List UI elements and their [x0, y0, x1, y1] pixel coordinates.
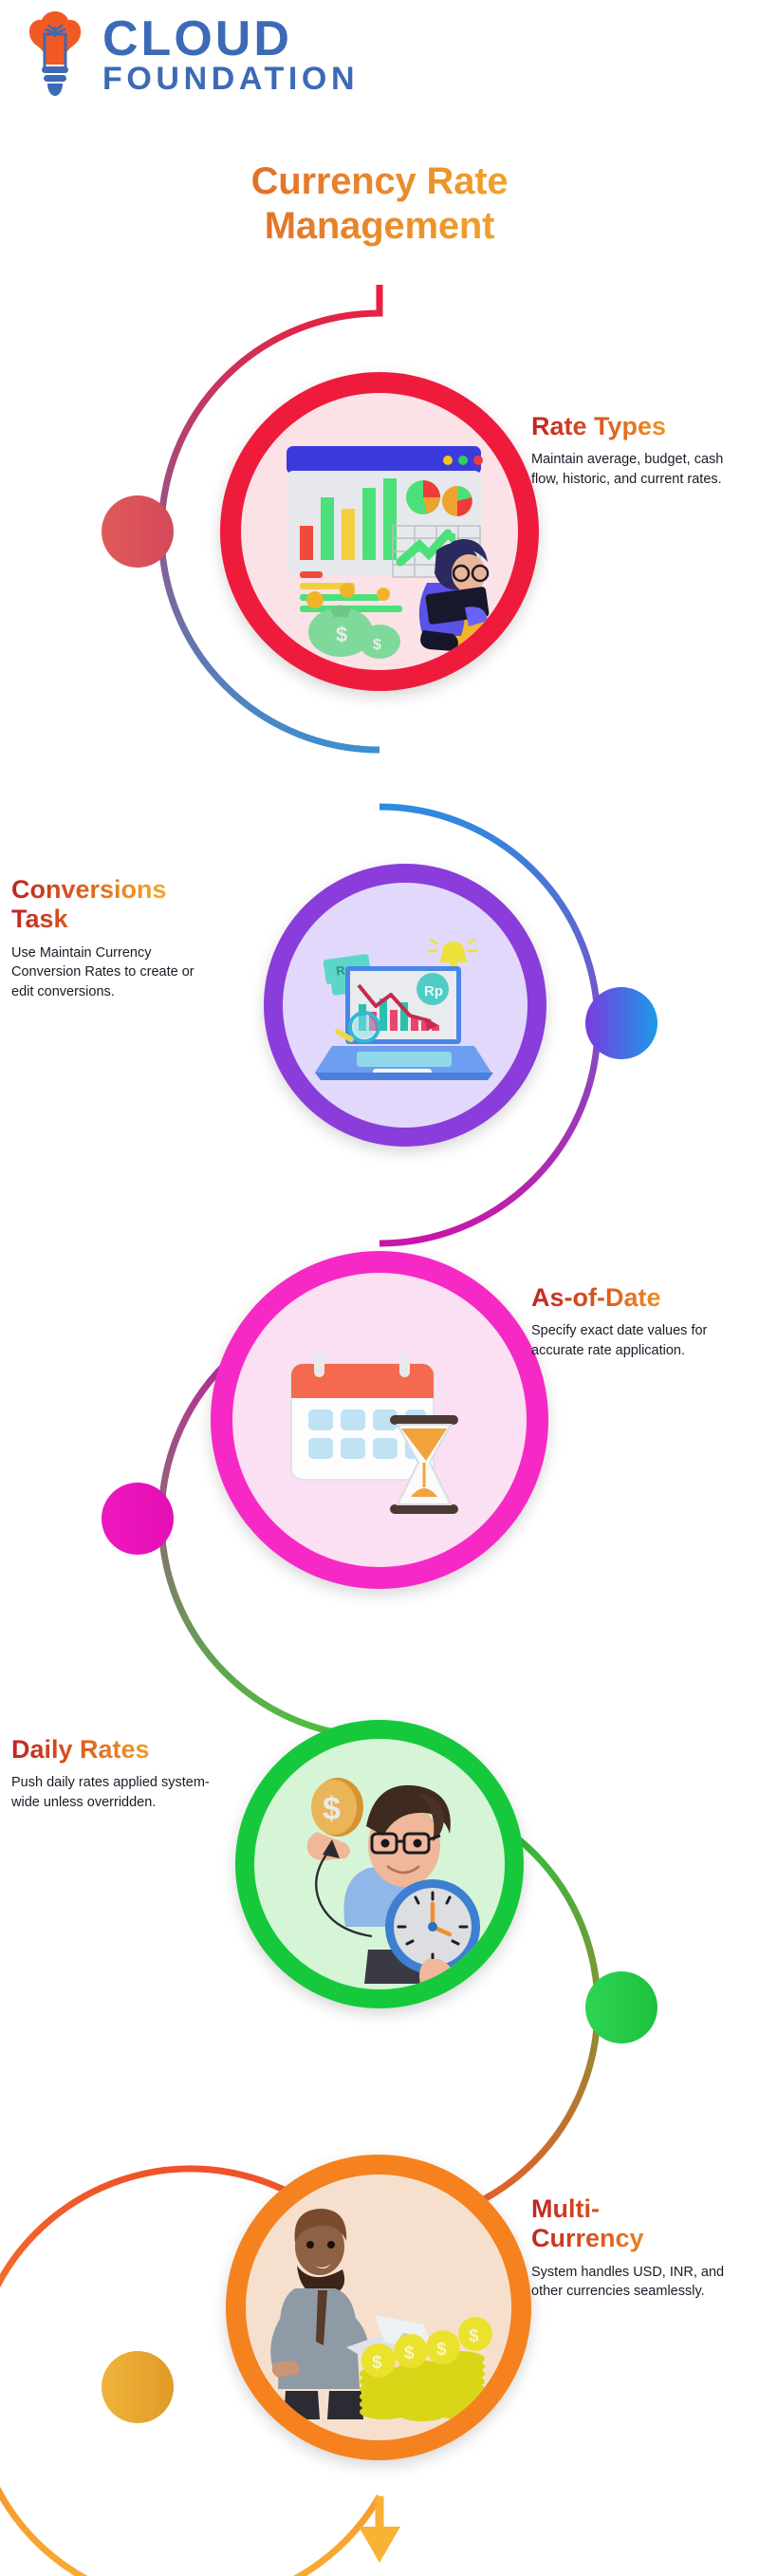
step-ring-as-of-date	[211, 1251, 548, 1589]
step-heading-line-2: Currency	[531, 2224, 644, 2252]
step-heading-as-of-date: As-of-Date	[531, 1283, 755, 1313]
svg-text:$: $	[372, 2353, 382, 2373]
step-illustration-calendar-hourglass-icon	[232, 1273, 527, 1567]
step-text-rate-types: Rate Types Maintain average, budget, cas…	[531, 412, 751, 489]
step-node-multi-currency[interactable]: $ $ $ $	[226, 2155, 531, 2460]
svg-text:$: $	[469, 2326, 479, 2346]
step-text-multi-currency: Multi- Currency System handles USD, INR,…	[531, 2194, 751, 2302]
step-body-multi-currency: System handles USD, INR, and other curre…	[531, 2263, 751, 2302]
step-ring-conversions-task: Rp	[264, 864, 546, 1147]
svg-text:Rp: Rp	[424, 983, 443, 999]
down-arrow-icon	[359, 2496, 400, 2563]
step-illustration-man-coin-clock-icon: $	[254, 1739, 505, 1989]
step-ring-rate-types: $ $	[220, 372, 539, 691]
step-body-daily-rates: Push daily rates applied system-wide unl…	[11, 1773, 220, 1812]
step-node-daily-rates[interactable]: $	[235, 1720, 524, 2008]
step-body-rate-types: Maintain average, budget, cash flow, his…	[531, 450, 751, 489]
step-ring-multi-currency: $ $ $ $	[226, 2155, 531, 2460]
step-illustration-dashboard-charts-analyst-icon: $ $	[241, 393, 518, 670]
step-illustration-man-laptop-coin-stacks-icon: $ $ $ $	[246, 2175, 511, 2440]
step-heading-daily-rates: Daily Rates	[11, 1735, 220, 1764]
step-text-as-of-date: As-of-Date Specify exact date values for…	[531, 1283, 755, 1360]
step-node-conversions-task[interactable]: Rp	[264, 864, 546, 1147]
step-illustration-laptop-declining-chart-icon: Rp	[283, 883, 528, 1128]
svg-text:$: $	[373, 637, 381, 653]
step-heading-rate-types: Rate Types	[531, 412, 751, 441]
step-node-as-of-date[interactable]	[211, 1251, 548, 1589]
step-ring-daily-rates: $	[235, 1720, 524, 2008]
step-heading-line-2: Task	[11, 905, 68, 933]
svg-text:$: $	[436, 2340, 447, 2360]
svg-text:$: $	[336, 623, 347, 646]
step-body-as-of-date: Specify exact date values for accurate r…	[531, 1321, 755, 1360]
step-heading-line-1: Multi-	[531, 2194, 600, 2223]
step-text-daily-rates: Daily Rates Push daily rates applied sys…	[11, 1735, 220, 1812]
step-body-conversions-task: Use Maintain Currency Conversion Rates t…	[11, 943, 216, 1002]
svg-text:$: $	[404, 2343, 415, 2363]
infographic-page: CLOUD FOUNDATION Currency Rate Managemen…	[0, 0, 759, 2576]
step-heading-conversions-task: Conversions Task	[11, 875, 216, 935]
svg-text:$: $	[323, 1791, 341, 1827]
step-text-conversions-task: Conversions Task Use Maintain Currency C…	[11, 875, 216, 1001]
step-node-rate-types[interactable]: $ $	[220, 372, 539, 691]
step-heading-line-1: Conversions	[11, 875, 167, 904]
step-heading-multi-currency: Multi- Currency	[531, 2194, 751, 2254]
